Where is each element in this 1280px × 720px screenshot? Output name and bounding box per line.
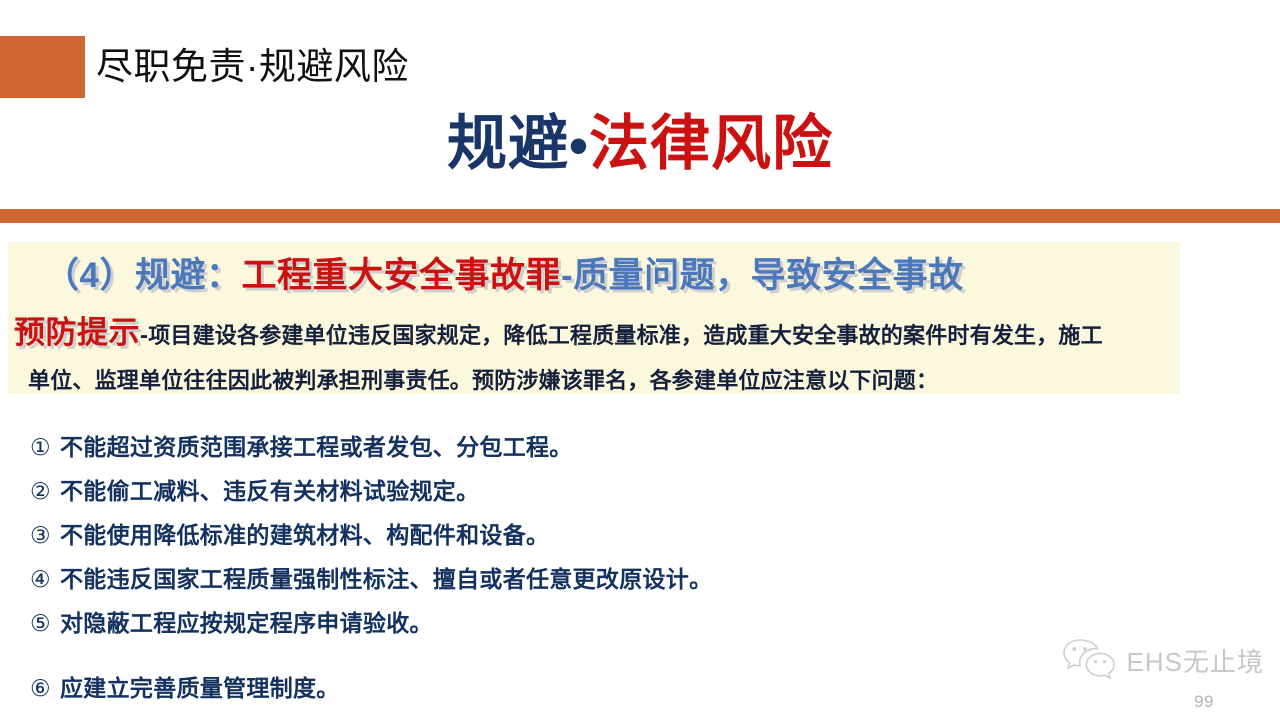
heading-suffix: -质量问题，导致安全事故 xyxy=(561,256,964,295)
wechat-icon xyxy=(1061,637,1117,684)
list-item-label: 不能使用降低标准的建筑材料、构配件和设备。 xyxy=(60,522,549,548)
list-item-marker: ④ xyxy=(30,557,60,601)
list-item-marker: ① xyxy=(30,425,60,469)
slide-main-title: 规避•法律风险 xyxy=(0,104,1280,186)
list-item-label: 对隐蔽工程应按规定程序申请验收。 xyxy=(60,610,433,636)
section-heading: （4）规避：工程重大安全事故罪-质量问题，导致安全事故 xyxy=(44,250,964,302)
title-part-red: 法律风险 xyxy=(589,110,833,177)
numbered-list: ①不能超过资质范围承接工程或者发包、分包工程。 ②不能偷工减料、违反有关材料试验… xyxy=(30,425,1230,710)
prevention-tip-line-2: 单位、监理单位往往因此被判承担刑事责任。预防涉嫌该罪名，各参建单位应注意以下问题… xyxy=(14,358,1272,403)
orange-divider-rule xyxy=(0,209,1280,223)
heading-crime-name: 工程重大安全事故罪 xyxy=(241,256,561,295)
list-item-marker: ② xyxy=(30,469,60,513)
title-part-blue: 规避 xyxy=(447,110,569,177)
watermark: EHS无止境 xyxy=(1061,637,1264,684)
title-bullet-dot: • xyxy=(569,116,589,176)
page-header-title: 尽职免责·规避风险 xyxy=(96,38,409,96)
list-item-label: 应建立完善质量管理制度。 xyxy=(60,675,340,701)
page-number: 99 xyxy=(1194,692,1214,712)
prevention-tip-text-1: 项目建设各参建单位违反国家规定，降低工程质量标准，造成重大安全事故的案件时有发生… xyxy=(148,323,1103,348)
list-item-marker: ③ xyxy=(30,513,60,557)
heading-prefix: （4）规避： xyxy=(44,256,241,295)
list-item: ⑥应建立完善质量管理制度。 xyxy=(30,666,1230,710)
list-item: ③不能使用降低标准的建筑材料、构配件和设备。 xyxy=(30,513,1230,557)
list-item: ④不能违反国家工程质量强制性标注、擅自或者任意更改原设计。 xyxy=(30,557,1230,601)
header-accent-block xyxy=(0,36,85,98)
prevention-tip-block: 预防提示-项目建设各参建单位违反国家规定，降低工程质量标准，造成重大安全事故的案… xyxy=(14,310,1272,403)
list-item: ②不能偷工减料、违反有关材料试验规定。 xyxy=(30,469,1230,513)
list-item-label: 不能超过资质范围承接工程或者发包、分包工程。 xyxy=(60,434,573,460)
prevention-tip-line-1: 预防提示-项目建设各参建单位违反国家规定，降低工程质量标准，造成重大安全事故的案… xyxy=(14,310,1272,358)
list-item-marker: ⑥ xyxy=(30,666,60,710)
list-item: ⑤对隐蔽工程应按规定程序申请验收。 xyxy=(30,601,1230,645)
list-item-label: 不能违反国家工程质量强制性标注、擅自或者任意更改原设计。 xyxy=(60,566,712,592)
prevention-tip-dash: - xyxy=(140,322,148,349)
list-item: ①不能超过资质范围承接工程或者发包、分包工程。 xyxy=(30,425,1230,469)
prevention-tip-label: 预防提示 xyxy=(14,315,140,350)
watermark-label: EHS无止境 xyxy=(1127,642,1264,679)
list-item-label: 不能偷工减料、违反有关材料试验规定。 xyxy=(60,478,479,504)
list-item-marker: ⑤ xyxy=(30,601,60,645)
